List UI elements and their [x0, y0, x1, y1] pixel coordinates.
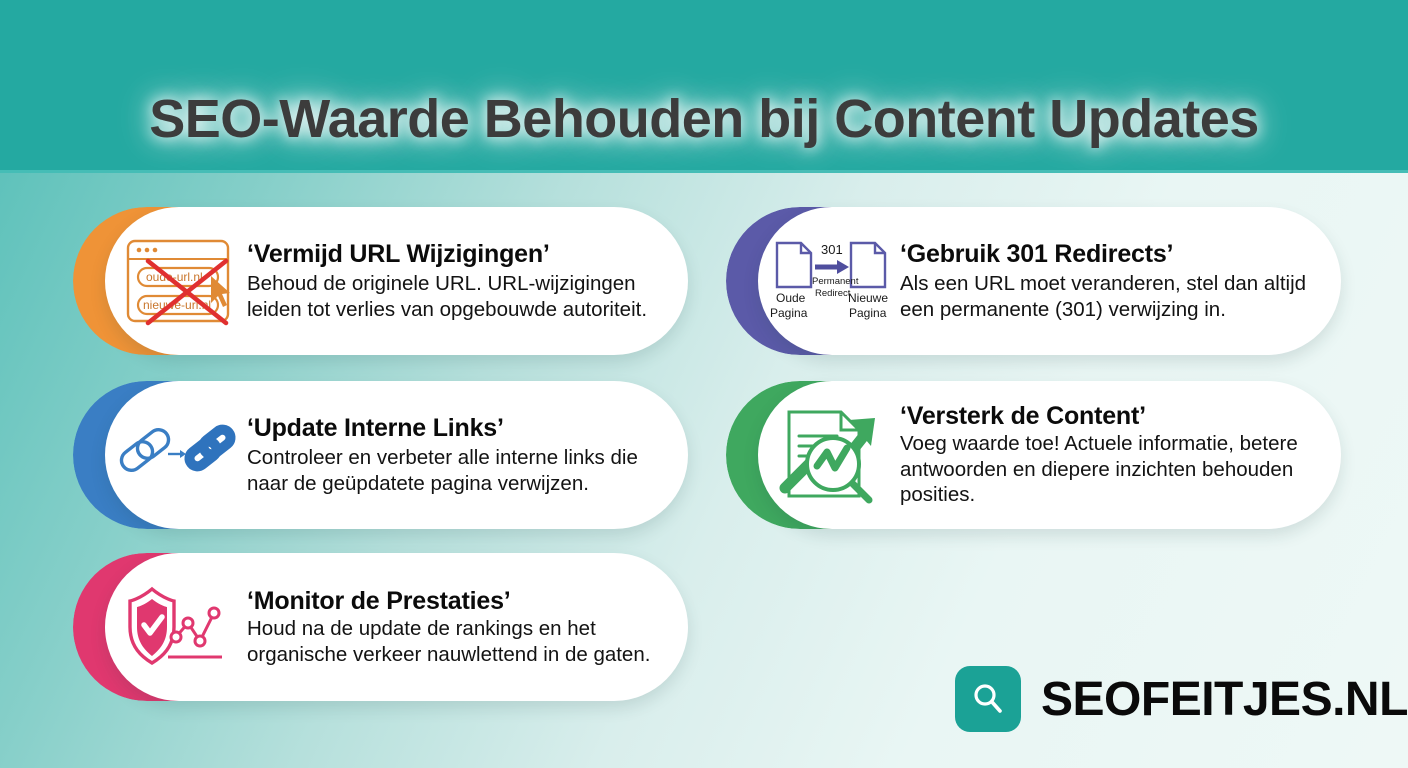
card-heading: ‘Versterk de Content’	[900, 402, 1315, 430]
card-text: ‘Versterk de Content’ Voeg waarde toe! A…	[900, 402, 1341, 507]
svg-text:Oude: Oude	[776, 291, 806, 305]
card-body: 301 Permanent Redirect Oude Pagina Nieuw…	[758, 207, 1341, 355]
card-body: ‘Versterk de Content’ Voeg waarde toe! A…	[758, 381, 1341, 529]
shield-check-chart-icon	[109, 567, 247, 687]
card-heading: ‘Vermijd URL Wijzigingen’	[247, 240, 662, 268]
svg-text:Pagina: Pagina	[849, 306, 887, 320]
card-vermijd-url-wijzigingen[interactable]: oude-url.nl nieuwe-url.nl ‘Vermijd URL W…	[73, 207, 688, 355]
card-description: Als een URL moet veranderen, stel dan al…	[900, 271, 1315, 322]
infographic-canvas: SEO-Waarde Behouden bij Content Updates …	[0, 0, 1408, 768]
chain-link-update-icon	[109, 395, 247, 515]
logo-text: SEOFEITJES.NL	[1041, 672, 1408, 727]
card-heading: ‘Update Interne Links’	[247, 414, 662, 442]
browser-url-crossed-out-icon: oude-url.nl nieuwe-url.nl	[109, 221, 247, 341]
card-description: Houd na de update de rankings en het org…	[247, 616, 662, 667]
search-icon	[969, 680, 1007, 718]
svg-text:Redirect: Redirect	[815, 288, 851, 299]
card-text: ‘Monitor de Prestaties’ Houd na de updat…	[247, 587, 688, 667]
svg-text:Pagina: Pagina	[770, 306, 808, 320]
card-description: Controleer en verbeter alle interne link…	[247, 445, 662, 496]
document-growth-magnifier-icon	[762, 395, 900, 515]
card-body: ‘Update Interne Links’ Controleer en ver…	[105, 381, 688, 529]
card-gebruik-301-redirects[interactable]: 301 Permanent Redirect Oude Pagina Nieuw…	[726, 207, 1341, 355]
page-redirect-arrow-icon: 301 Permanent Redirect Oude Pagina Nieuw…	[762, 221, 900, 341]
card-update-interne-links[interactable]: ‘Update Interne Links’ Controleer en ver…	[73, 381, 688, 529]
card-body: oude-url.nl nieuwe-url.nl ‘Vermijd URL W…	[105, 207, 688, 355]
svg-text:301: 301	[821, 242, 843, 257]
logo-mark	[955, 666, 1021, 732]
card-description: Voeg waarde toe! Actuele informatie, bet…	[900, 431, 1315, 507]
card-text: ‘Update Interne Links’ Controleer en ver…	[247, 414, 688, 496]
card-text: ‘Gebruik 301 Redirects’ Als een URL moet…	[900, 240, 1341, 322]
svg-text:Nieuwe: Nieuwe	[848, 291, 888, 305]
card-monitor-de-prestaties[interactable]: ‘Monitor de Prestaties’ Houd na de updat…	[73, 553, 688, 701]
brand-logo[interactable]: SEOFEITJES.NL	[955, 666, 1408, 732]
card-text: ‘Vermijd URL Wijzigingen’ Behoud de orig…	[247, 240, 688, 322]
card-heading: ‘Gebruik 301 Redirects’	[900, 240, 1315, 268]
page-title: SEO-Waarde Behouden bij Content Updates	[0, 88, 1408, 150]
card-description: Behoud de originele URL. URL-wijzigingen…	[247, 271, 662, 322]
card-versterk-de-content[interactable]: ‘Versterk de Content’ Voeg waarde toe! A…	[726, 381, 1341, 529]
card-heading: ‘Monitor de Prestaties’	[247, 587, 662, 615]
card-body: ‘Monitor de Prestaties’ Houd na de updat…	[105, 553, 688, 701]
svg-text:Permanent: Permanent	[812, 276, 859, 287]
